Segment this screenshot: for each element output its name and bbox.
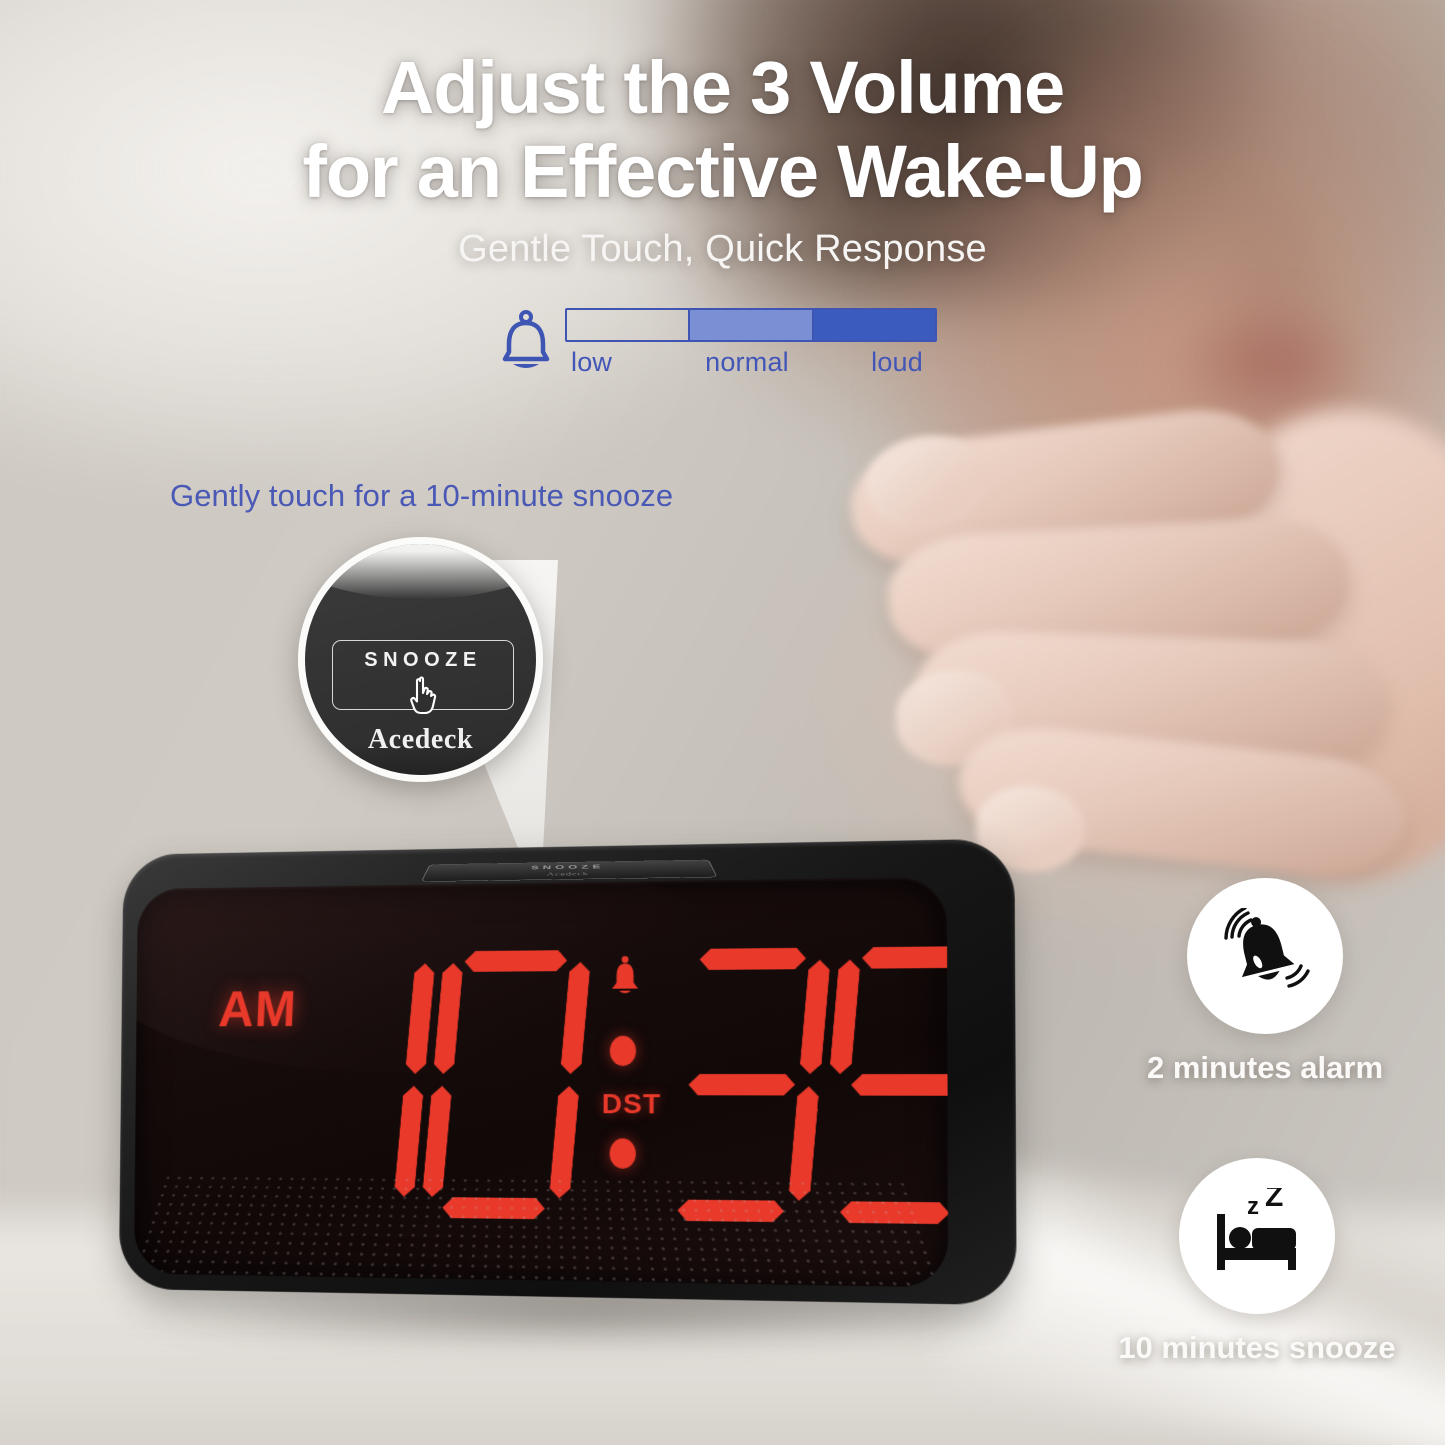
dst-indicator: DST — [602, 1088, 661, 1120]
alarm-clock: SNOOZE Acedeck AM — [92, 828, 1032, 1348]
badge-circle-snooze: z Z — [1179, 1158, 1335, 1314]
feature-badge-snooze: z Z 10 minutes snooze — [1112, 1158, 1402, 1366]
headline-line-2: for an Effective Wake-Up — [0, 130, 1445, 214]
volume-level-widget: low normal loud — [497, 308, 937, 390]
svg-text:Z: Z — [1265, 1188, 1283, 1213]
segment-f — [829, 959, 861, 1074]
headline: Adjust the 3 Volume for an Effective Wak… — [0, 46, 1445, 215]
segment-a — [699, 948, 807, 970]
segment-a — [861, 946, 948, 969]
volume-segment-low[interactable] — [567, 310, 688, 340]
clock-body: SNOOZE Acedeck AM — [119, 838, 1017, 1305]
segment-a — [464, 950, 568, 972]
badge-label-alarm: 2 minutes alarm — [1120, 1050, 1410, 1086]
badge-circle-alarm — [1187, 878, 1343, 1034]
volume-bar[interactable] — [565, 308, 937, 342]
volume-label-normal: normal — [688, 347, 805, 378]
segment-b — [405, 963, 435, 1074]
snooze-magnifier: SNOOZE Acedeck — [298, 537, 543, 782]
ringing-bell-icon — [1217, 908, 1313, 1004]
headline-line-1: Adjust the 3 Volume — [0, 46, 1445, 130]
snooze-button-zoomed[interactable]: SNOOZE — [332, 640, 514, 710]
colon-dot-top — [610, 1036, 636, 1066]
volume-label-low: low — [565, 347, 688, 378]
pointing-hand-cursor-icon — [407, 675, 441, 717]
segment-g — [688, 1074, 796, 1095]
clock-top-snooze-panel[interactable]: SNOOZE Acedeck — [421, 860, 718, 882]
subtitle: Gentle Touch, Quick Response — [0, 228, 1445, 271]
svg-text:z: z — [1247, 1193, 1259, 1220]
segment-f — [433, 963, 464, 1074]
segment-b — [799, 960, 831, 1074]
bell-outline-icon — [497, 310, 555, 374]
volume-label-loud: loud — [806, 347, 937, 378]
volume-segment-loud[interactable] — [812, 310, 935, 340]
badge-label-snooze: 10 minutes snooze — [1112, 1330, 1402, 1366]
speaker-grille — [134, 1176, 949, 1288]
clock-led-screen: AM — [134, 877, 949, 1288]
magnifier-top-sheen — [298, 537, 543, 599]
colon-dot-bottom — [610, 1138, 636, 1168]
feature-badge-alarm: 2 minutes alarm — [1120, 878, 1410, 1086]
snooze-callout-caption: Gently touch for a 10-minute snooze — [170, 478, 673, 514]
snooze-button-label: SNOOZE — [333, 649, 513, 672]
bed-sleep-zzz-icon: z Z — [1207, 1188, 1307, 1284]
volume-segment-normal[interactable] — [688, 310, 811, 340]
acedeck-wordmark-zoomed: Acedeck — [305, 724, 536, 756]
segment-g — [850, 1074, 948, 1096]
volume-labels: low normal loud — [565, 347, 937, 378]
alarm-bell-icon — [608, 955, 642, 995]
